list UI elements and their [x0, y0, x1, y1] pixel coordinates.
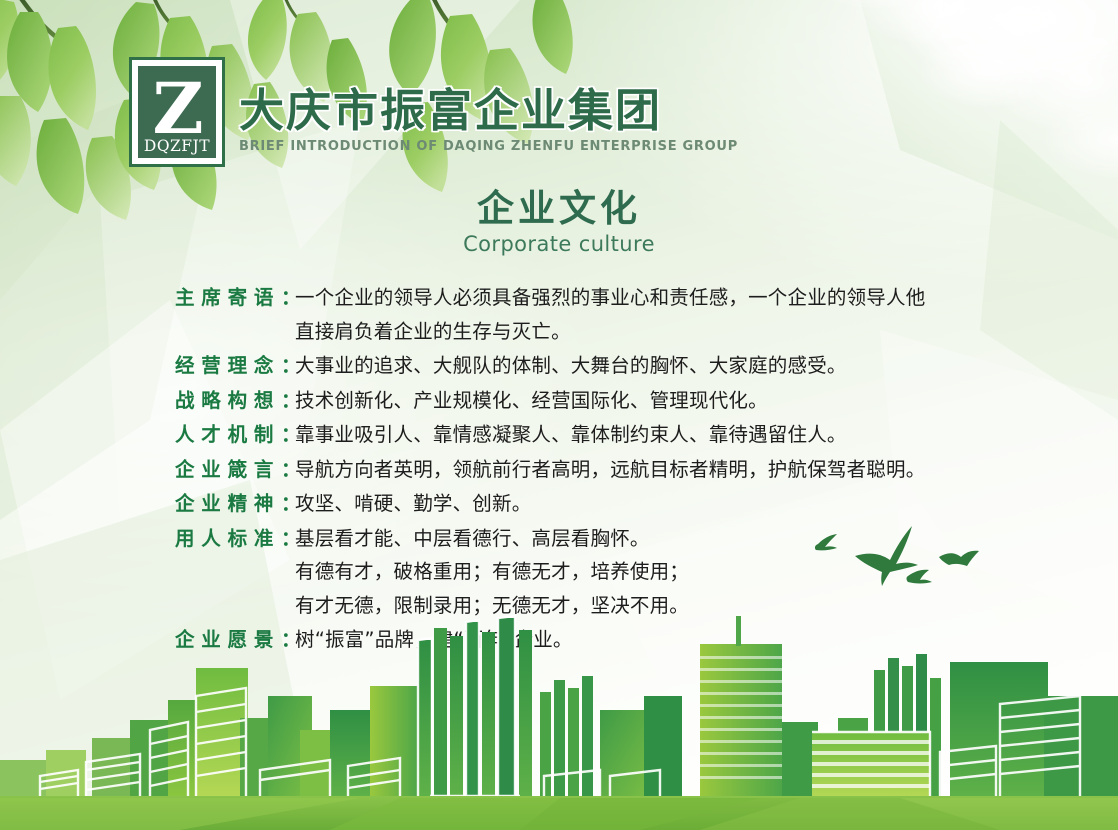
culture-entry-label-colon: ： — [281, 522, 295, 556]
culture-entry-label-text: 用 人 标 准 — [175, 522, 272, 556]
culture-entry-label: 人 才 机 制： — [175, 418, 295, 452]
culture-entry: 人 才 机 制：靠事业吸引人、靠情感凝聚人、靠体制约束人、靠待遇留住人。 — [175, 418, 1005, 452]
culture-entry-body: 靠事业吸引人、靠情感凝聚人、靠体制约束人、靠待遇留住人。 — [295, 418, 1005, 452]
culture-entry-label-colon: ： — [281, 623, 295, 657]
culture-entry-label: 主 席 寄 语： — [175, 281, 295, 315]
culture-entry-label-colon: ： — [281, 384, 295, 418]
culture-entry-label-colon: ： — [281, 418, 295, 452]
culture-entry: 经 营 理 念：大事业的追求、大舰队的体制、大舞台的胸怀、大家庭的感受。 — [175, 349, 1005, 383]
culture-entry-label-text: 人 才 机 制 — [175, 418, 272, 452]
page-subtitle: Corporate culture — [0, 232, 1118, 256]
corporate-culture-poster: Z DQZFJT 大庆市振富企业集团 BRIEF INTRODUCTION OF… — [0, 0, 1118, 830]
culture-entry-line: 直接肩负着企业的生存与灭亡。 — [295, 315, 1005, 349]
culture-entry-label-colon: ： — [281, 281, 295, 315]
culture-entry-body: 一个企业的领导人必须具备强烈的事业心和责任感，一个企业的领导人他直接肩负着企业的… — [295, 281, 1005, 348]
culture-entry-body: 技术创新化、产业规模化、经营国际化、管理现代化。 — [295, 384, 1005, 418]
culture-entry-line: 大事业的追求、大舰队的体制、大舞台的胸怀、大家庭的感受。 — [295, 349, 1005, 383]
culture-entry: 企 业 箴 言：导航方向者英明，领航前行者高明，远航目标者精明，护航保驾者聪明。 — [175, 453, 1005, 487]
culture-entry-label-text: 企 业 愿 景 — [175, 623, 272, 657]
logo-inner-block: Z DQZFJT — [138, 66, 216, 158]
culture-entry-body: 树“振富”品牌，建“百年”企业。 — [295, 623, 1005, 657]
company-title-block: 大庆市振富企业集团 BRIEF INTRODUCTION OF DAQING Z… — [239, 57, 738, 154]
culture-entry: 战 略 构 想：技术创新化、产业规模化、经营国际化、管理现代化。 — [175, 384, 1005, 418]
culture-entry-label-text: 经 营 理 念 — [175, 349, 272, 383]
culture-entry-line: 攻坚、啃硬、勤学、创新。 — [295, 487, 1005, 521]
culture-entry-label-text: 主 席 寄 语 — [175, 281, 272, 315]
section-title-block: 企业文化 Corporate culture — [0, 188, 1118, 256]
page-title: 企业文化 — [0, 188, 1118, 231]
culture-entry-line: 树“振富”品牌，建“百年”企业。 — [295, 623, 1005, 657]
culture-entry-label: 企 业 箴 言： — [175, 453, 295, 487]
culture-entry-label-text: 战 略 构 想 — [175, 384, 272, 418]
clouds-icon — [728, 0, 1118, 220]
culture-entry-label: 经 营 理 念： — [175, 349, 295, 383]
culture-entry-body: 攻坚、啃硬、勤学、创新。 — [295, 487, 1005, 521]
culture-entry: 企 业 愿 景：树“振富”品牌，建“百年”企业。 — [175, 623, 1005, 657]
culture-entry-label-colon: ： — [281, 487, 295, 521]
culture-entry-line: 基层看才能、中层看德行、高层看胸怀。 — [295, 522, 1005, 556]
culture-entry-line: 一个企业的领导人必须具备强烈的事业心和责任感，一个企业的领导人他 — [295, 281, 1005, 315]
culture-entry-label: 用 人 标 准： — [175, 522, 295, 556]
culture-entry: 用 人 标 准：基层看才能、中层看德行、高层看胸怀。有德有才，破格重用；有德无才… — [175, 522, 1005, 623]
culture-entry-body: 基层看才能、中层看德行、高层看胸怀。有德有才，破格重用；有德无才，培养使用；有才… — [295, 522, 1005, 623]
culture-entry-label-colon: ： — [281, 453, 295, 487]
culture-entry-line: 技术创新化、产业规模化、经营国际化、管理现代化。 — [295, 384, 1005, 418]
culture-entry-line: 导航方向者英明，领航前行者高明，远航目标者精明，护航保驾者聪明。 — [295, 453, 1005, 487]
culture-entry: 企 业 精 神：攻坚、啃硬、勤学、创新。 — [175, 487, 1005, 521]
culture-entry-line: 靠事业吸引人、靠情感凝聚人、靠体制约束人、靠待遇留住人。 — [295, 418, 1005, 452]
culture-entry-label: 企 业 愿 景： — [175, 623, 295, 657]
logo-letter: Z — [152, 80, 201, 137]
culture-entries-list: 主 席 寄 语：一个企业的领导人必须具备强烈的事业心和责任感，一个企业的领导人他… — [175, 281, 1005, 658]
company-name-english: BRIEF INTRODUCTION OF DAQING ZHENFU ENTE… — [239, 139, 738, 154]
culture-entry-body: 大事业的追求、大舰队的体制、大舞台的胸怀、大家庭的感受。 — [295, 349, 1005, 383]
culture-entry-label-colon: ： — [281, 349, 295, 383]
culture-entry: 主 席 寄 语：一个企业的领导人必须具备强烈的事业心和责任感，一个企业的领导人他… — [175, 281, 1005, 348]
culture-entry-body: 导航方向者英明，领航前行者高明，远航目标者精明，护航保驾者聪明。 — [295, 453, 1005, 487]
culture-entry-label-text: 企 业 箴 言 — [175, 453, 272, 487]
culture-entry-line: 有德有才，破格重用；有德无才，培养使用； — [295, 555, 1005, 589]
culture-entry-label: 战 略 构 想： — [175, 384, 295, 418]
logo-abbreviation: DQZFJT — [144, 139, 210, 155]
culture-entry-label-text: 企 业 精 神 — [175, 487, 272, 521]
poster-header: Z DQZFJT 大庆市振富企业集团 BRIEF INTRODUCTION OF… — [129, 57, 738, 167]
company-logo: Z DQZFJT — [129, 57, 225, 167]
culture-entry-label: 企 业 精 神： — [175, 487, 295, 521]
culture-entry-line: 有才无德，限制录用；无德无才，坚决不用。 — [295, 589, 1005, 623]
company-name: 大庆市振富企业集团 — [239, 87, 738, 134]
